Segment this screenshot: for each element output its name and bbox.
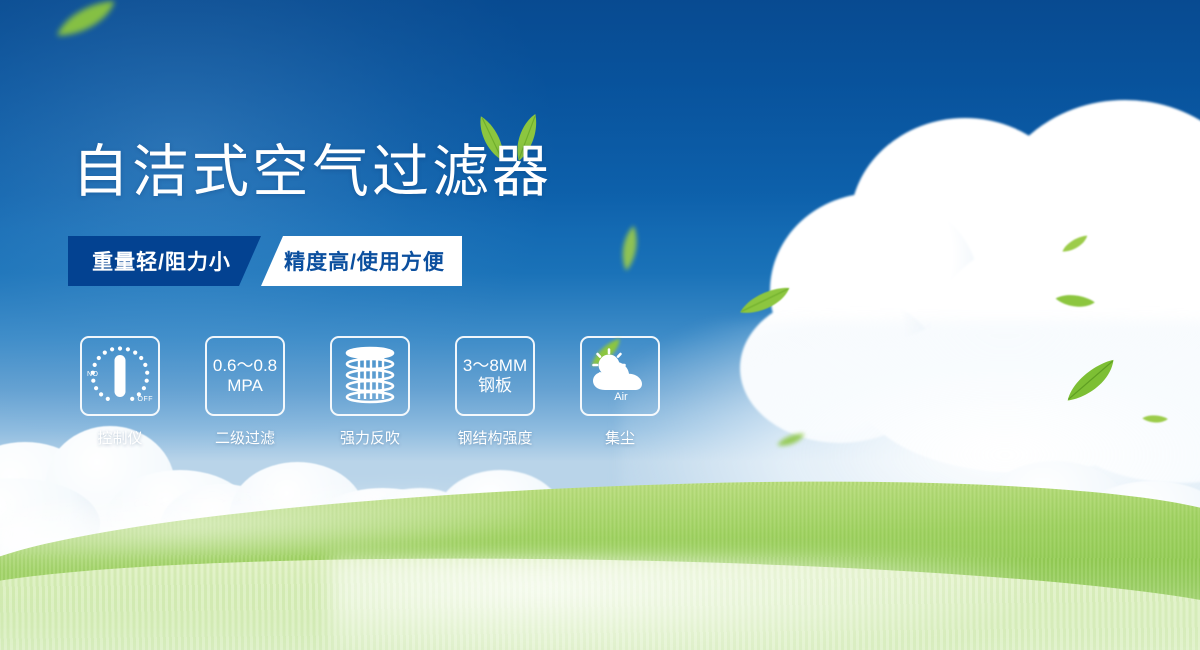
cloud-air-icon: Air: [580, 336, 660, 416]
feature-item-dust-collection: Air 集尘: [580, 336, 660, 448]
steel-material: 钢板: [463, 376, 527, 396]
pressure-value: 0.6～0.8: [213, 356, 277, 375]
subtitle-left: 重量轻/阻力小: [68, 236, 261, 286]
product-banner: 自洁式空气过滤器 重量轻/阻力小 精度高/使用方便: [0, 0, 1200, 650]
feature-item-pressure: 0.6～0.8 MPA 二级过滤: [205, 336, 285, 448]
grass-bottom-glow: [0, 560, 1200, 650]
feature-item-control-dial: NO OFF 控制仪: [80, 336, 160, 448]
feature-label: 集尘: [605, 427, 635, 448]
control-dial-icon: NO OFF: [80, 336, 160, 416]
feature-label: 强力反吹: [340, 427, 400, 448]
pressure-unit: MPA: [213, 376, 277, 396]
air-label: Air: [614, 391, 628, 403]
feature-item-steel-strength: 3～8MM 钢板 钢结构强度: [455, 336, 535, 448]
subtitle-right: 精度高/使用方便: [261, 236, 462, 286]
page-title: 自洁式空气过滤器: [72, 144, 552, 201]
feature-label: 二级过滤: [215, 427, 275, 448]
dial-indicator: [115, 355, 126, 397]
subtitle-bar: 重量轻/阻力小 精度高/使用方便: [68, 236, 462, 286]
feature-label: 钢结构强度: [457, 427, 532, 448]
feature-item-backflush: 强力反吹: [330, 336, 410, 448]
feature-label: 控制仪: [97, 427, 142, 448]
feature-list: NO OFF 控制仪 0.6～0.8 MPA 二级过滤: [80, 336, 660, 448]
steel-plate-text-icon: 3～8MM 钢板: [455, 336, 535, 416]
filter-cartridge-icon: [330, 336, 410, 416]
pressure-text-icon: 0.6～0.8 MPA: [205, 336, 285, 416]
dial-on-label: NO: [87, 371, 99, 378]
steel-thickness: 3～8MM: [463, 356, 527, 375]
dial-off-label: OFF: [138, 396, 154, 403]
